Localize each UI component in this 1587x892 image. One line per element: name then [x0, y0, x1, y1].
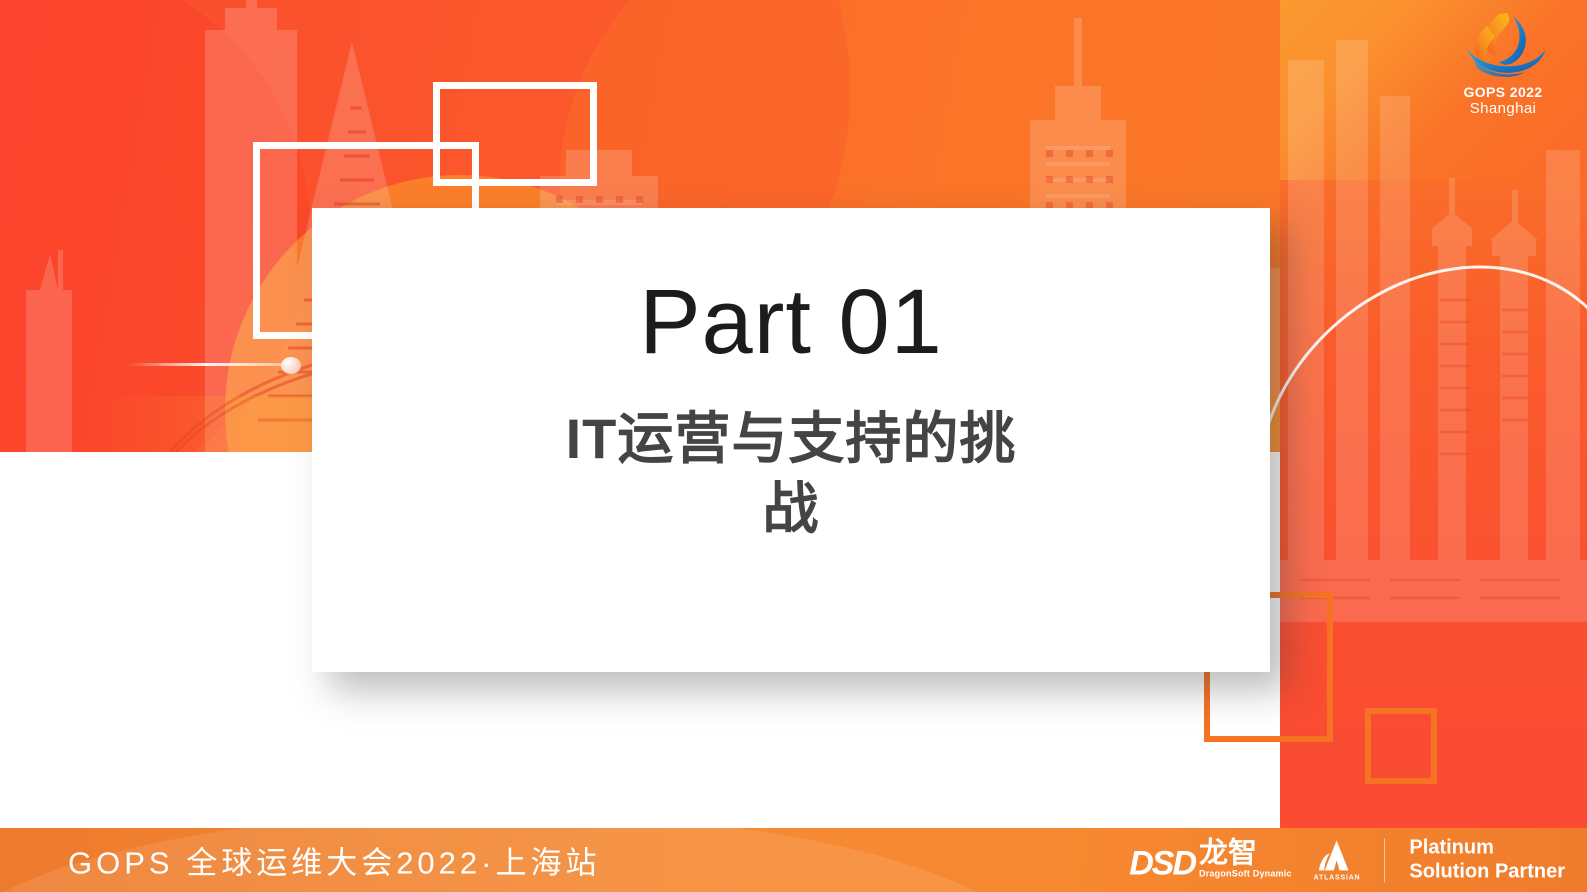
- atlassian-wordmark: ATLASSIAN: [1314, 874, 1361, 881]
- atlassian-logo: ATLASSIAN: [1314, 839, 1361, 881]
- dsd-chinese-name: 龙智: [1199, 840, 1257, 869]
- footer-divider: [1384, 838, 1385, 882]
- part-number-title: Part 01: [639, 276, 943, 368]
- gops-logo-city: Shanghai: [1443, 100, 1563, 117]
- gops-conference-logo: GOPS 2022 Shanghai: [1443, 10, 1563, 128]
- atlassian-mark-icon: [1317, 839, 1357, 873]
- decorative-outline-rect: [433, 82, 597, 186]
- partner-tier: Platinum: [1409, 836, 1565, 860]
- section-title-card: Part 01 IT运营与支持的挑战: [312, 208, 1270, 672]
- presentation-slide: Part 01 IT运营与支持的挑战 GO: [0, 0, 1587, 892]
- accent-line: [130, 363, 300, 366]
- conference-title: GOPS 全球运维大会2022·上海站: [68, 838, 600, 883]
- partner-badge: Platinum Solution Partner: [1409, 836, 1565, 883]
- dsd-wordmark: DSD: [1129, 846, 1195, 880]
- dsd-name-block: 龙智 DragonSoft Dynamic: [1199, 840, 1292, 881]
- gops-flame-wave-icon: [1443, 10, 1563, 84]
- accent-dot-icon: [281, 357, 301, 374]
- decorative-outline-rect-orange: [1365, 708, 1437, 784]
- partner-role: Solution Partner: [1409, 860, 1565, 884]
- dsd-sponsor-logo: DSD 龙智 DragonSoft Dynamic: [1129, 840, 1291, 881]
- slide-footer: GOPS 全球运维大会2022·上海站 DSD 龙智 DragonSoft Dy…: [0, 828, 1587, 892]
- dsd-english-name: DragonSoft Dynamic: [1199, 869, 1292, 881]
- gops-logo-name: GOPS 2022: [1443, 84, 1563, 100]
- section-subtitle: IT运营与支持的挑战: [556, 404, 1026, 544]
- footer-logos: DSD 龙智 DragonSoft Dynamic ATLASSIAN Plat…: [1129, 836, 1565, 883]
